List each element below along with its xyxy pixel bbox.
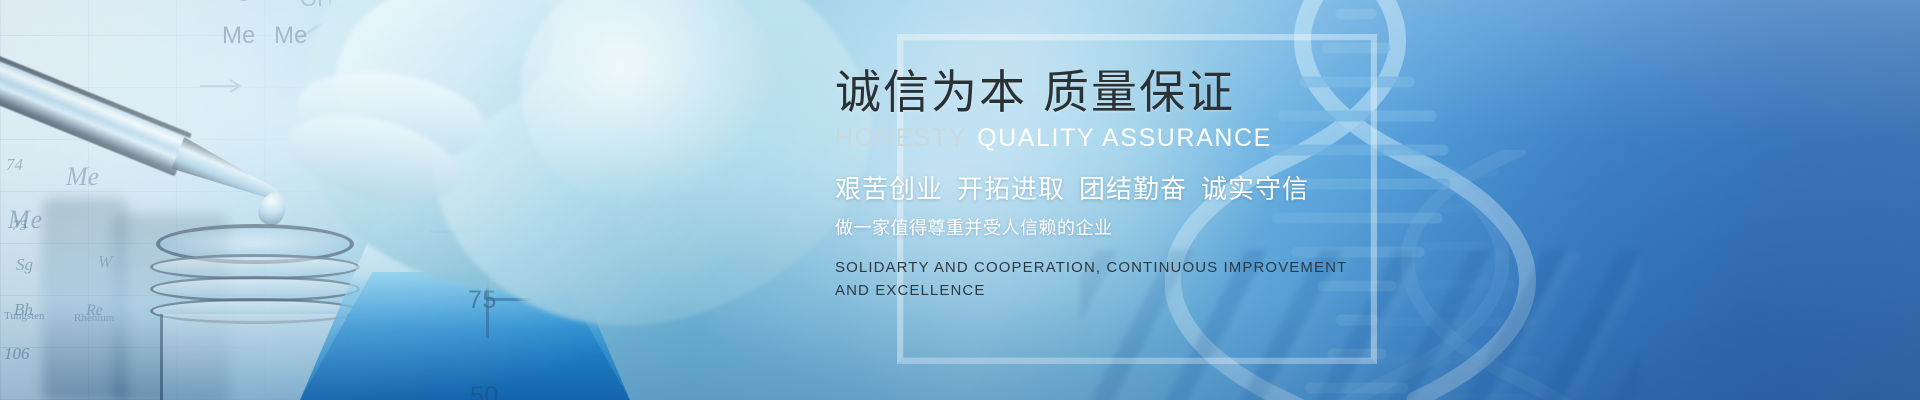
tagline-english-line-1: SOLIDARTY AND COOPERATION, CONTINUOUS IM… — [835, 256, 1435, 279]
banner-copy-block: 诚信为本质量保证 HONESTYQUALITY ASSURANCE 艰苦创业开拓… — [835, 68, 1475, 302]
tagline-english: SOLIDARTY AND COOPERATION, CONTINUOUS IM… — [835, 256, 1435, 303]
subheading-honesty: HONESTY — [835, 124, 967, 152]
tagline-chinese: 做一家值得尊重并受人信赖的企业 — [835, 214, 1475, 240]
subheading-english: HONESTYQUALITY ASSURANCE — [835, 124, 1475, 153]
headline-part-b: 质量保证 — [1043, 66, 1235, 118]
subheading-quality-assurance: QUALITY ASSURANCE — [977, 124, 1272, 152]
slogan-item: 开拓进取 — [957, 174, 1065, 204]
tagline-english-line-2: AND EXCELLENCE — [835, 279, 1435, 302]
slogan-item: 团结勤奋 — [1079, 174, 1187, 204]
headline-part-a: 诚信为本 — [835, 66, 1027, 118]
slogan-item: 诚实守信 — [1201, 174, 1309, 204]
hero-banner: 74 Me Me 75 Sg W Bh Re Tungsten Rhenium … — [0, 0, 1920, 400]
slogan-chinese: 艰苦创业开拓进取团结勤奋诚实守信 — [835, 169, 1475, 206]
slogan-item: 艰苦创业 — [835, 174, 943, 204]
page-title: 诚信为本质量保证 — [835, 68, 1475, 118]
